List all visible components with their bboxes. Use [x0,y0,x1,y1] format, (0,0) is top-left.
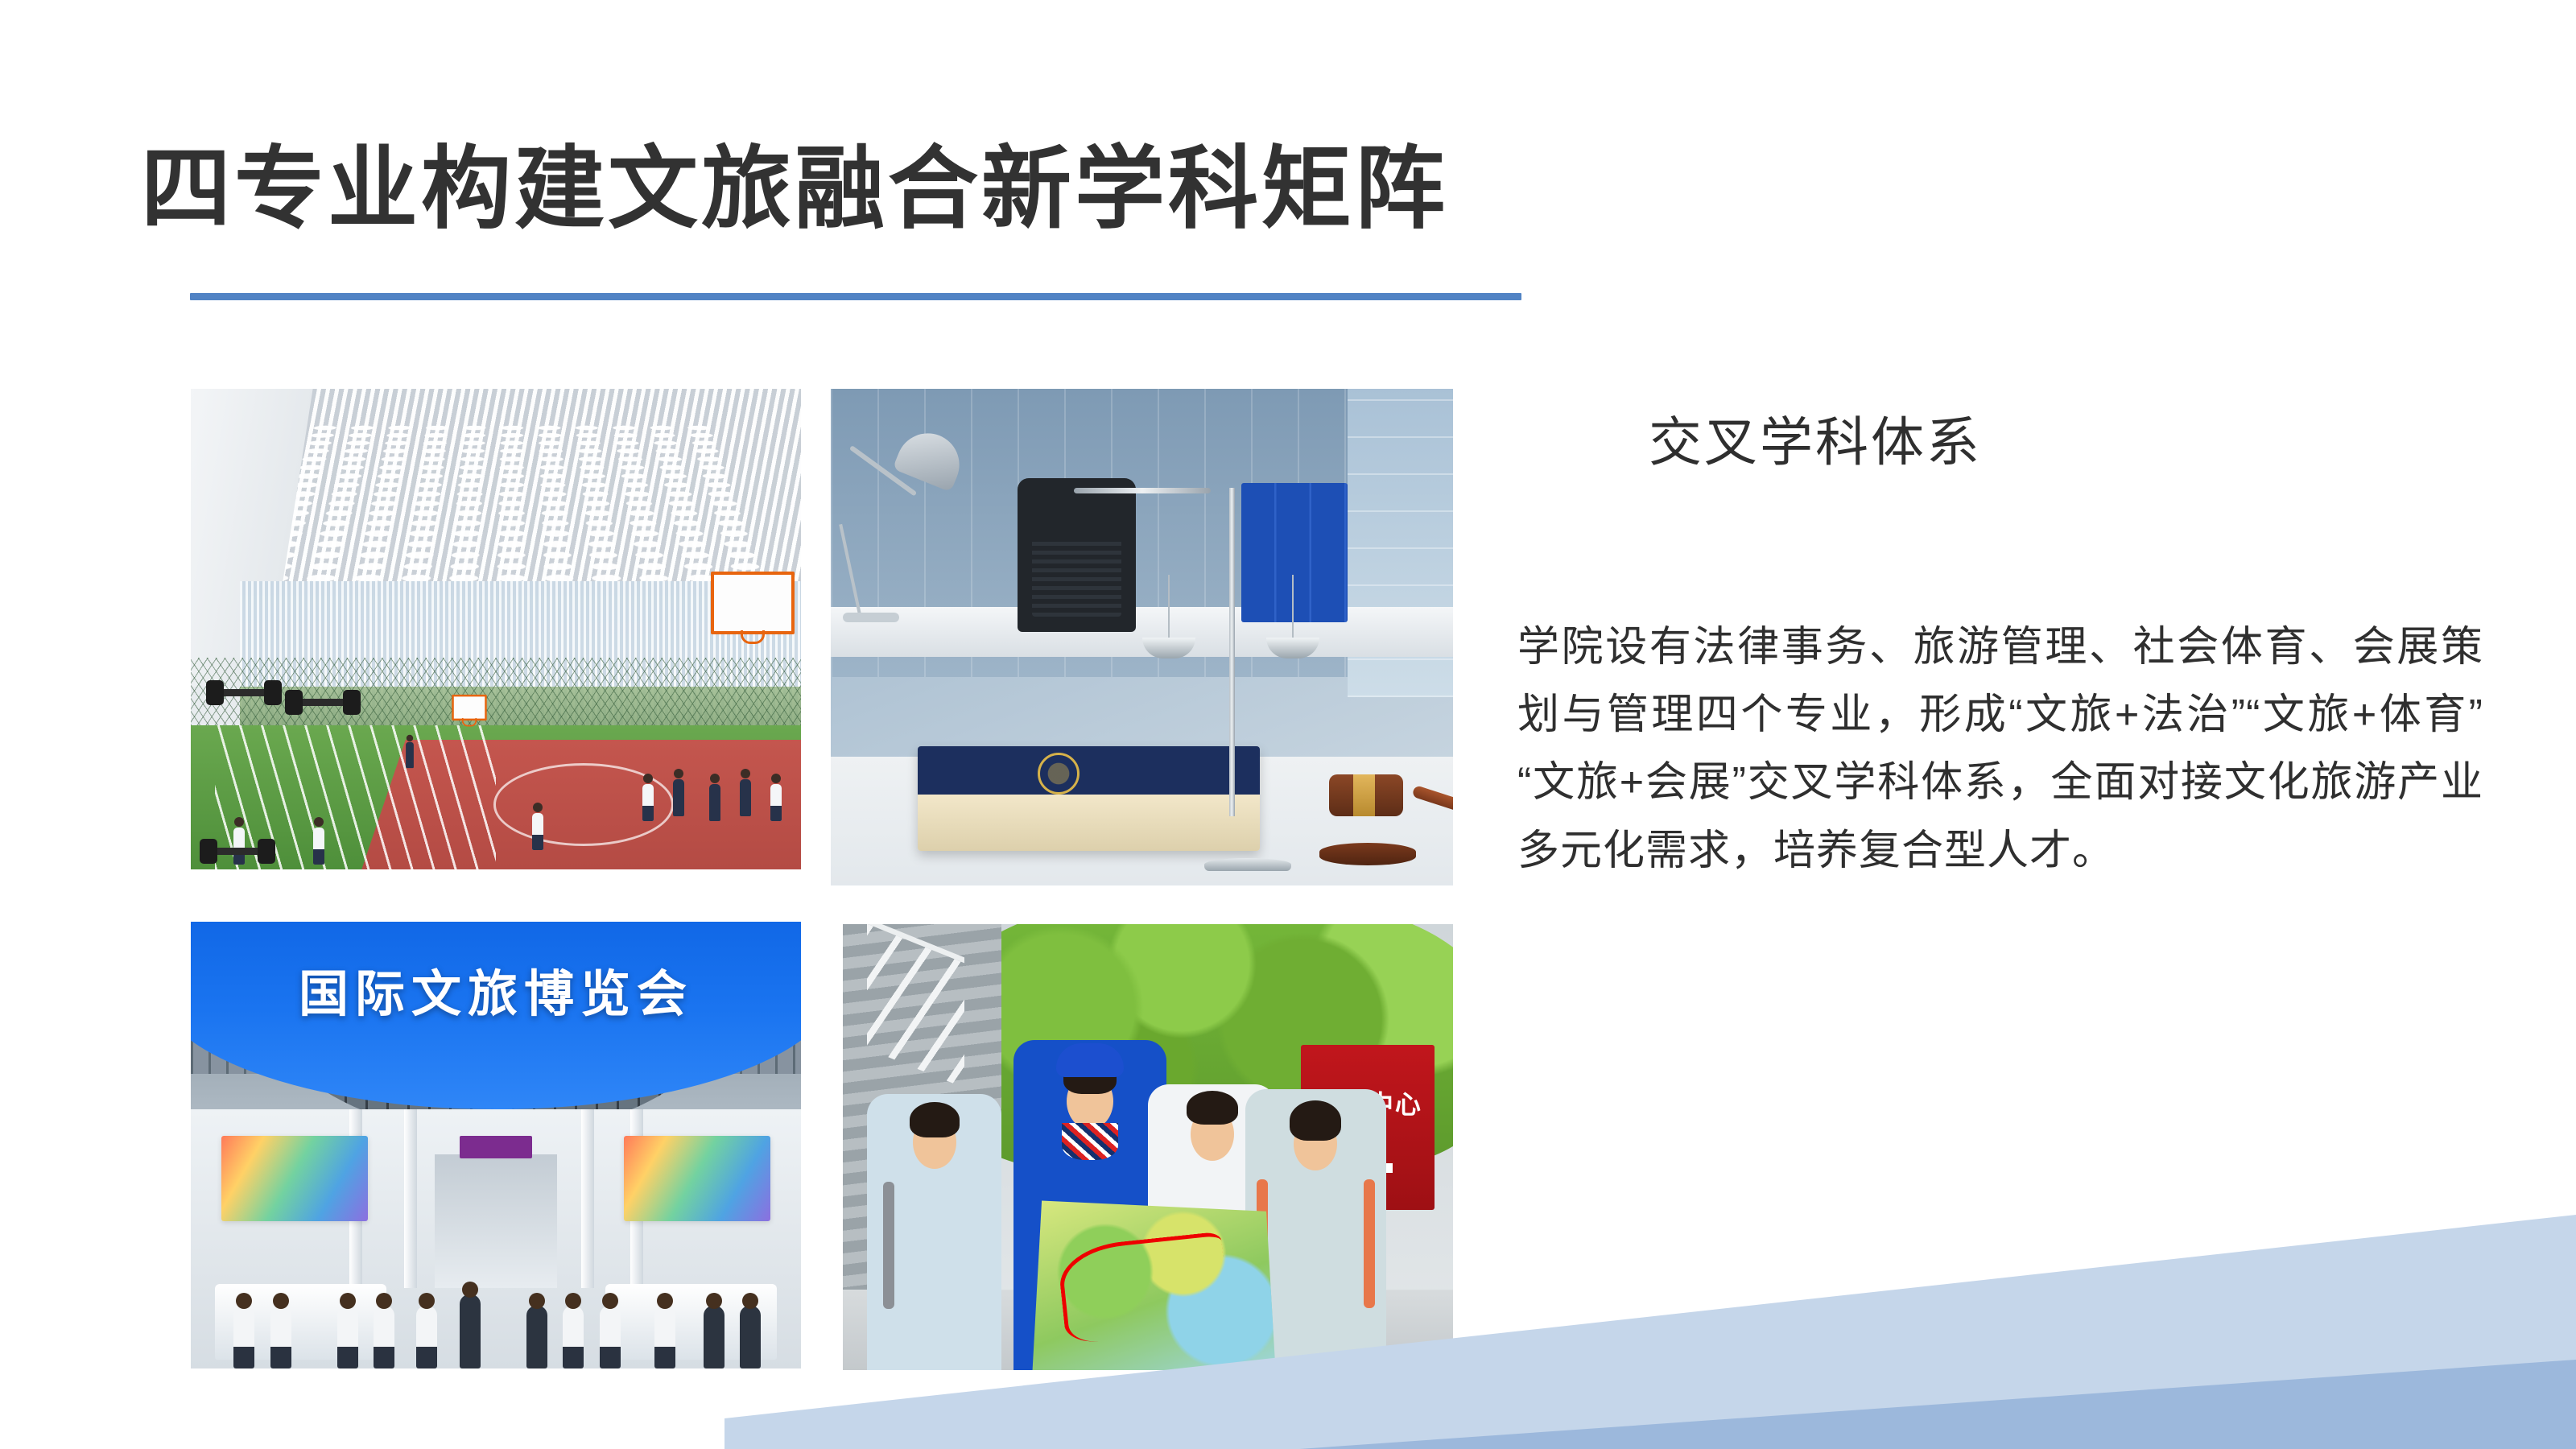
gym-person [673,779,684,816]
gym-person [709,784,720,821]
blue-binders-icon [1241,483,1347,622]
basketball-hoop-icon [452,695,486,720]
expo-display-panel [624,1136,770,1220]
expo-visitor [704,1306,724,1368]
expo-booth-column [404,1109,417,1288]
gym-person [406,742,414,768]
guide-neck-scarf [1062,1123,1118,1160]
gym-person [532,813,543,850]
panel-heading: 交叉学科体系 [1649,409,1982,476]
tourism-map-icon [1032,1200,1276,1370]
expo-hall-illustration: 国际文旅博览会 [191,922,801,1368]
page-title: 四专业构建文旅融合新学科矩阵 [141,138,1448,239]
expo-visitor [233,1306,254,1368]
guide-cap-icon [1056,1043,1124,1077]
law-back-desk [831,607,1453,657]
gavel-sound-block [1319,843,1416,865]
tourist-hair [1187,1091,1238,1125]
expo-visitor [270,1306,291,1368]
expo-visitor [526,1306,547,1368]
photo-culture-tourism-expo[interactable]: 国际文旅博览会 [191,922,801,1368]
slide-canvas: 四专业构建文旅融合新学科矩阵 [0,0,2576,1449]
tour-guide-illustration: 游客中心 [843,924,1453,1370]
title-underline-rule [190,293,1521,300]
panel-body-text: 学院设有法律事务、旅游管理、社会体育、会展策划与管理四个专业，形成“文旅+法治”… [1517,613,2483,885]
expo-visitor [654,1306,675,1368]
expo-visitor [416,1306,437,1368]
gym-person [313,828,324,865]
gym-person [770,784,782,821]
basketball-hoop-icon [711,572,795,634]
scales-post [1229,488,1235,815]
expo-display-panel [221,1136,368,1220]
expo-visitor [563,1306,584,1368]
scales-beam [1073,488,1210,493]
backpack-strap [1364,1179,1375,1309]
office-chair-icon [1018,478,1136,632]
expo-visitor [460,1294,481,1368]
scales-base [1204,858,1291,871]
law-office-illustration [831,389,1453,885]
expo-visitor [600,1306,621,1368]
photo-tour-guide-with-tourists[interactable]: 游客中心 [843,924,1453,1370]
expo-visitor [740,1306,761,1368]
expo-visitor [374,1306,394,1368]
tourist-person [867,1094,1001,1370]
expo-booth-column [581,1109,594,1288]
barbell-icon [203,848,272,855]
photo-law-office-justice[interactable] [831,389,1453,885]
gym-person [740,779,751,816]
barbell-icon [288,699,357,706]
law-book-icon [918,746,1260,851]
tourist-hair [910,1102,960,1137]
gym-person [233,828,245,865]
desk-lamp-base [843,613,899,622]
tourist-hair [1290,1100,1341,1141]
photo-indoor-sports-hall[interactable] [191,389,801,869]
expo-far-doorway [435,1154,557,1289]
gym-person [642,784,654,821]
expo-overhead-sign [460,1136,533,1158]
expo-banner-text: 国际文旅博览会 [299,953,693,1026]
backpack-strap [883,1182,894,1309]
expo-visitor [337,1306,358,1368]
barbell-icon [209,689,279,696]
gavel-icon [1329,774,1403,816]
indoor-sports-hall-illustration [191,389,801,869]
